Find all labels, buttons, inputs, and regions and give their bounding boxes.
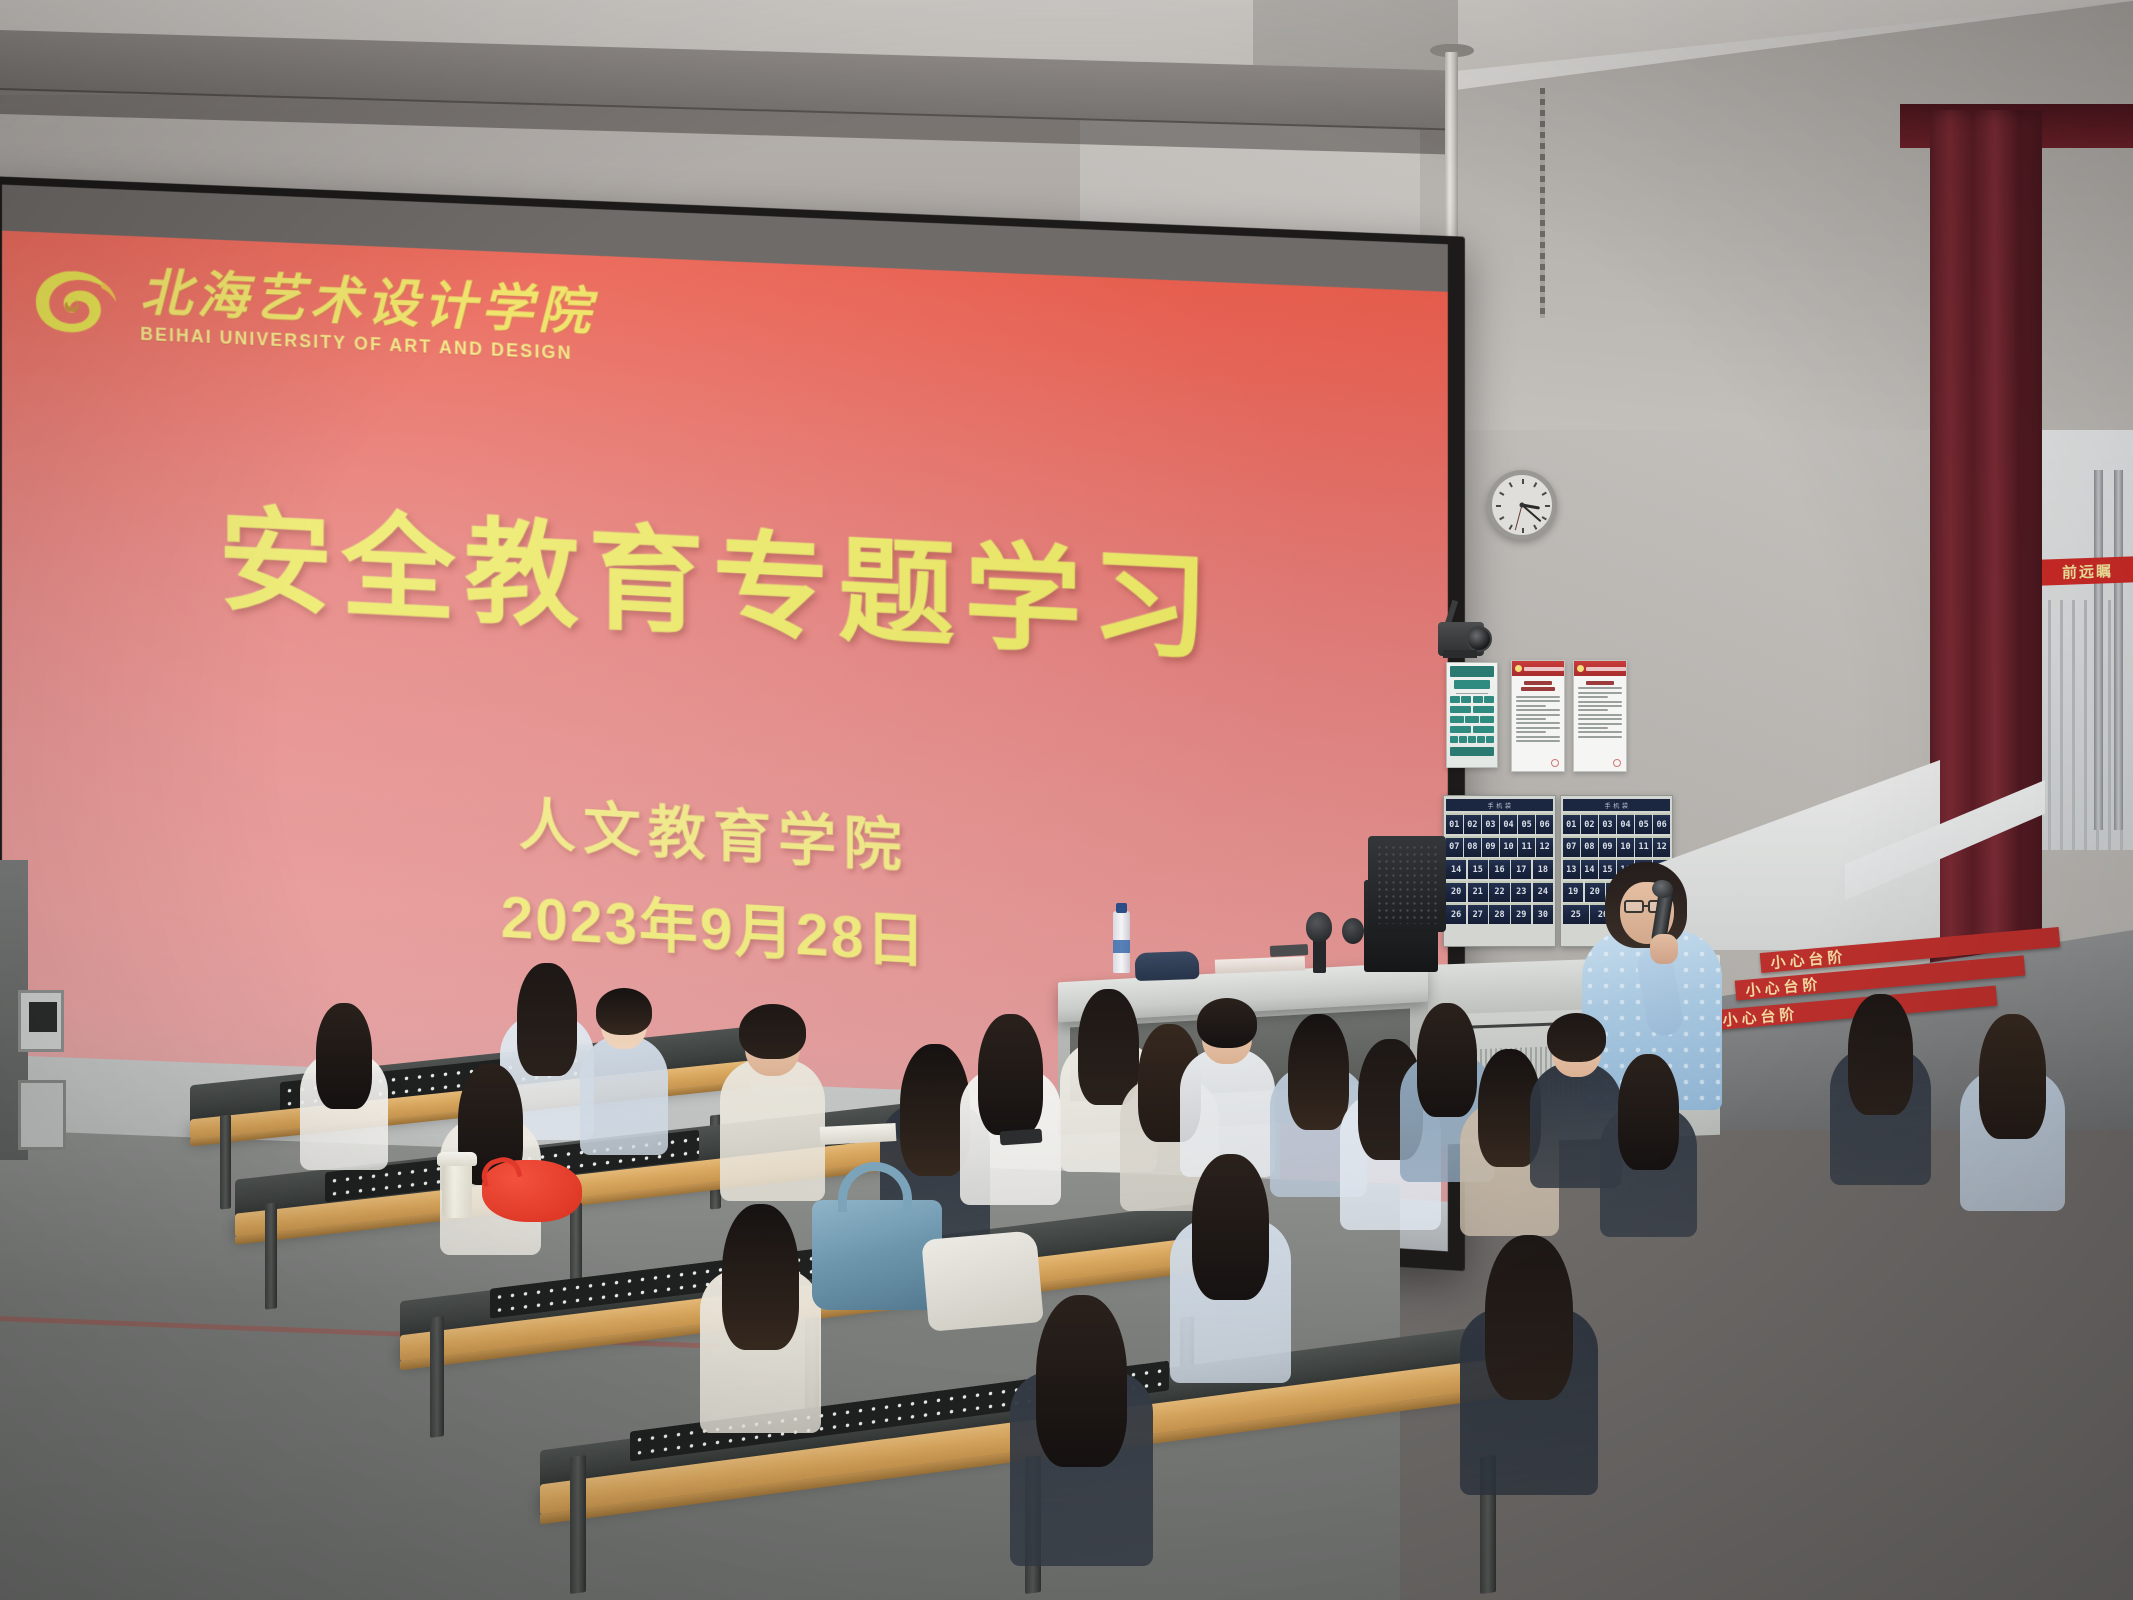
poster-red-header [1574,661,1626,676]
student-hair [1618,1054,1680,1170]
phone-pocket[interactable]: 06 [1536,813,1553,834]
phone-pocket-row: 1415161718 [1446,858,1553,879]
phone-pocket[interactable]: 30 [1533,903,1553,924]
student-hair [739,1004,806,1059]
university-logo: 北海艺术设计学院 BEIHAI UNIVERSITY OF ART AND DE… [28,260,596,368]
phone-pocket[interactable]: 26 [1446,903,1466,924]
phone-pocket[interactable]: 23 [1511,881,1531,902]
phone-pocket[interactable]: 09 [1599,836,1616,857]
poster-row [1450,706,1494,713]
clock-tick [1542,492,1547,496]
phone-pocket[interactable]: 10 [1617,836,1634,857]
audience-member [1170,1150,1291,1370]
phone-pocket[interactable]: 14 [1446,858,1466,879]
camera-base-plate [1443,650,1477,658]
microphone-head-icon [1306,912,1332,942]
phone-pocket[interactable]: 08 [1464,836,1481,857]
phone-pocket[interactable]: 15 [1468,858,1488,879]
phone-pocket[interactable]: 04 [1617,813,1634,834]
phone-panel-header-right: 手 机 袋 [1563,799,1670,811]
clock-tick [1545,505,1550,507]
clock-tick [1522,479,1524,484]
desk-leg [430,1316,444,1438]
audience-member [300,1000,388,1160]
student-hair [517,963,577,1075]
student-hair [722,1204,799,1349]
spiral-wave-logo-icon [28,260,124,346]
phone-pocket[interactable]: 22 [1489,881,1509,902]
wall-outlet[interactable] [18,990,64,1052]
phone-pocket[interactable]: 07 [1563,836,1580,857]
phone-pocket[interactable]: 27 [1468,903,1488,924]
clock-tick [1496,505,1501,507]
audience-member [700,1200,821,1420]
clock-tick [1509,525,1513,530]
phone-pocket[interactable]: 21 [1468,881,1488,902]
presenter-hand [1650,934,1678,964]
phone-pocket[interactable]: 24 [1533,881,1553,902]
slide-title: 安全教育专题学习 [2,459,1448,695]
phone-pocket[interactable]: 29 [1511,903,1531,924]
camera-lens-icon [1466,626,1492,652]
phone-pocket[interactable]: 11 [1635,836,1652,857]
student-torso [720,1059,825,1202]
audience-member [960,1010,1061,1194]
safety-notice-poster-2 [1573,660,1627,772]
poster-row [1450,726,1494,733]
microphone-head-icon [1342,918,1364,944]
phone-pocket[interactable]: 10 [1500,836,1517,857]
phone-pocket[interactable]: 08 [1581,836,1598,857]
wall-chain [1540,88,1545,318]
student-hair [1036,1295,1127,1467]
student-hair [1485,1235,1573,1400]
phone-pocket[interactable]: 17 [1511,858,1531,879]
phone-pocket[interactable]: 06 [1653,813,1670,834]
phone-pocket[interactable]: 19 [1563,881,1583,902]
clock-tick [1499,516,1504,520]
wall-panel-box[interactable] [18,1080,66,1150]
outdoor-banner: 前远瞩 [2042,556,2133,585]
av-speaker-box [1368,836,1446,932]
student-torso [580,1035,668,1155]
audience-member [1010,1290,1153,1550]
phone-pocket[interactable]: 02 [1581,813,1598,834]
poster-emblem-icon [1577,665,1584,672]
audience-member [720,1000,825,1190]
bottle-label [1113,940,1130,953]
phone-pocket[interactable]: 09 [1482,836,1499,857]
poster-seal-icon [1613,759,1621,767]
poster-row [1450,716,1494,723]
phone-pocket[interactable]: 05 [1635,813,1652,834]
phone-pocket-row: 2021222324 [1446,881,1553,902]
phone-pocket-panel-left[interactable]: 手 机 袋 0102030405060708091011121415161718… [1443,795,1556,947]
clock-tick [1533,525,1537,530]
clock-tick [1522,528,1524,533]
clock-tick [1533,482,1537,487]
student-hair [1979,1014,2046,1139]
audience-member [1460,1230,1598,1480]
phone-pocket-row: 010203040506 [1563,813,1670,834]
cup-lid [437,1152,477,1166]
phone-pocket[interactable]: 14 [1581,858,1598,879]
phone-pocket-row: 010203040506 [1446,813,1553,834]
audience-member [1180,995,1275,1167]
desk-microphone-base[interactable] [1270,944,1309,957]
poster-row [1450,696,1494,703]
logo-wordmark: 北海艺术设计学院 BEIHAI UNIVERSITY OF ART AND DE… [140,268,595,364]
eyeglasses-bridge [1644,905,1650,907]
safety-notice-poster-1 [1511,660,1565,772]
analog-wall-clock [1487,470,1557,540]
phone-pocket[interactable]: 28 [1489,903,1509,924]
poster-red-header [1512,661,1564,676]
student-hair [316,1003,372,1109]
phone-pocket[interactable]: 20 [1446,881,1466,902]
phone-pocket[interactable]: 04 [1500,813,1517,834]
folded-jacket [1135,951,1200,981]
smartphone[interactable] [1000,1129,1043,1146]
phone-pocket-row: 070809101112 [1446,836,1553,857]
student-hair [1197,998,1257,1048]
student-hair [1547,1013,1606,1062]
window-rail [2048,600,2051,850]
phone-pocket[interactable]: 18 [1533,858,1553,879]
phone-pocket-row: 2627282930 [1446,903,1553,924]
phone-pocket-rows-left: 0102030405060708091011121415161718202122… [1446,813,1553,924]
window-post [2114,470,2123,830]
desk-leg [265,1202,277,1309]
student-hair [1848,994,1912,1115]
phone-pocket[interactable]: 25 [1563,903,1589,924]
audience-member [1600,1050,1697,1226]
eyeglasses-icon [1624,900,1644,913]
poster-subheader [1454,680,1490,689]
clock-tick [1499,492,1504,496]
phone-pocket[interactable]: 11 [1518,836,1535,857]
audience-member [1960,1010,2065,1200]
poster-connector [1456,693,1488,694]
poster-seal-icon [1551,759,1559,767]
bottle-cap [1116,903,1127,913]
student-hair [1192,1154,1269,1299]
window-post [2094,470,2103,830]
phone-pocket[interactable]: 07 [1446,836,1463,857]
clock-tick [1509,482,1513,487]
desk-leg [220,1114,231,1209]
poster-emblem-icon [1515,665,1522,672]
phone-pocket[interactable]: 13 [1563,858,1580,879]
stage-curtain [1930,110,2042,990]
phone-panel-header-left: 手 机 袋 [1446,799,1553,811]
phone-pocket[interactable]: 01 [1446,813,1463,834]
phone-pocket[interactable]: 01 [1563,813,1580,834]
phone-pocket[interactable]: 03 [1599,813,1616,834]
poster-footer [1450,747,1494,756]
desk-leg [570,1455,586,1594]
phone-pocket[interactable]: 20 [1585,881,1605,902]
clock-second-hand [1515,505,1523,530]
phone-pocket[interactable]: 02 [1464,813,1481,834]
paper-coffee-cup[interactable] [442,1162,472,1218]
student-hair [596,988,652,1034]
audience-member [580,985,668,1145]
clock-tick [1542,516,1547,520]
lecture-hall-scene: 前远瞩 北海艺术设计学院 BEIHAI UNIVERSITY OF ART AN… [0,0,2133,1600]
phone-pocket[interactable]: 12 [1653,836,1670,857]
window-view: 前远瞩 [2042,430,2133,850]
white-tote-bag[interactable] [921,1230,1044,1332]
phone-pocket[interactable]: 12 [1536,836,1553,857]
student-hair [978,1014,1042,1135]
phone-pocket-row: 070809101112 [1563,836,1670,857]
audience-member [1830,990,1931,1174]
phone-pocket[interactable]: 05 [1518,813,1535,834]
poster-row [1450,736,1494,743]
phone-pocket[interactable]: 16 [1489,858,1509,879]
emergency-flowchart-poster [1446,662,1498,768]
poster-header [1450,666,1494,677]
clock-center-pin [1520,503,1525,508]
phone-pocket[interactable]: 03 [1482,813,1499,834]
